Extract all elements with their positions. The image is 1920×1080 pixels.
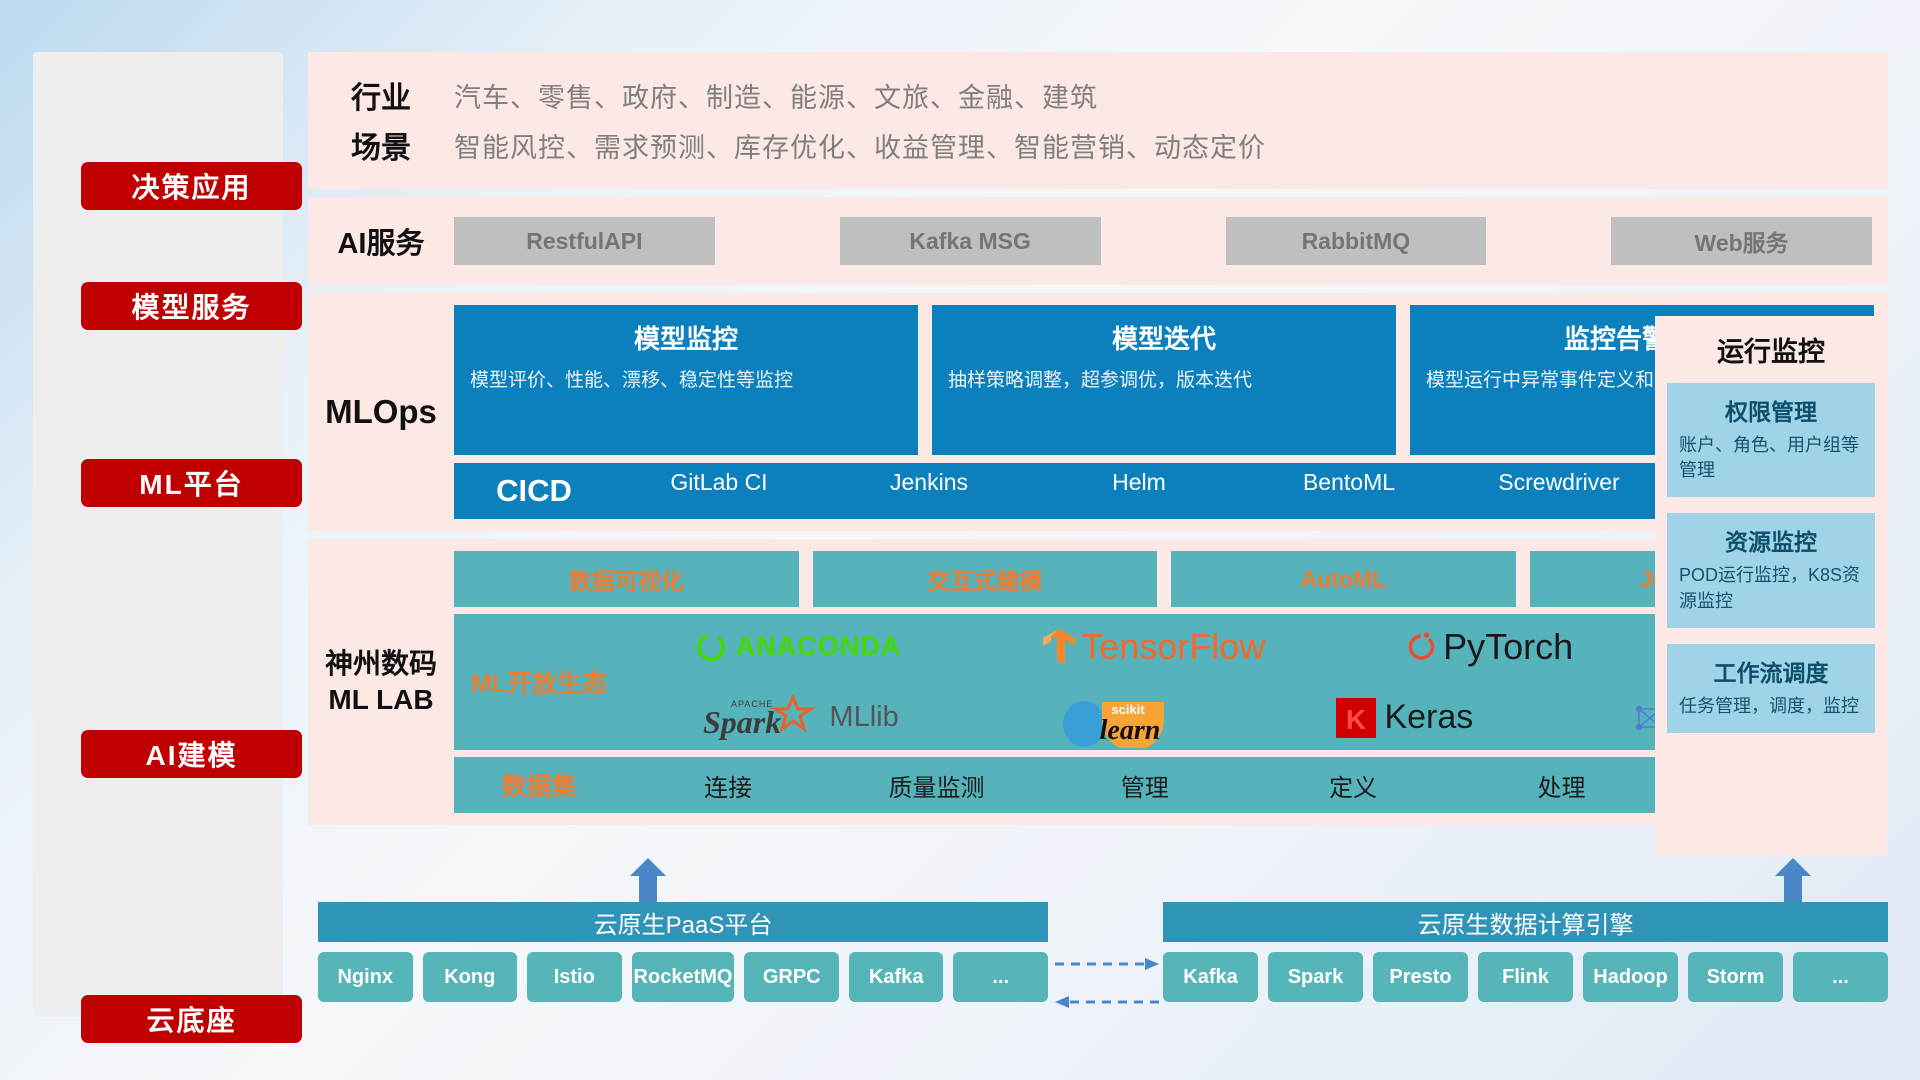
card-desc: 任务管理，调度，监控 bbox=[1679, 694, 1863, 719]
card-desc: 模型评价、性能、漂移、稳定性等监控 bbox=[470, 368, 902, 395]
cloud-data-engine-group: 云原生数据计算引擎 Kafka Spark Presto Flink Hadoo… bbox=[1163, 902, 1888, 1002]
tab-interactive-modeling[interactable]: 交互式建模 bbox=[813, 551, 1158, 607]
tensorflow-logo: TensorFlow bbox=[1041, 626, 1265, 668]
cloud-paas-chips: Nginx Kong Istio RocketMQ GRPC Kafka ... bbox=[318, 952, 1048, 1002]
tab-data-visualization[interactable]: 数据可视化 bbox=[454, 551, 799, 607]
spark-mllib-logo: Spark APACHE MLlib bbox=[703, 695, 898, 741]
rail-label-text: AI建模 bbox=[145, 734, 237, 774]
band-business: 行业 汽车、零售、政府、制造、能源、文旅、金融、建筑 场景 智能风控、需求预测、… bbox=[308, 52, 1888, 189]
rail-label-model-service[interactable]: 模型服务 bbox=[81, 282, 302, 330]
up-arrow-icon-left bbox=[628, 858, 668, 902]
scikit-learn-logo: scikit learn bbox=[1058, 688, 1178, 748]
runtime-monitor-title: 运行监控 bbox=[1667, 330, 1875, 369]
paas-chip-kong[interactable]: Kong bbox=[423, 952, 518, 1002]
engine-chip-more[interactable]: ... bbox=[1793, 952, 1888, 1002]
engine-chip-kafka[interactable]: Kafka bbox=[1163, 952, 1258, 1002]
paas-chip-kafka[interactable]: Kafka bbox=[849, 952, 944, 1002]
tensorflow-label: TensorFlow bbox=[1081, 626, 1265, 668]
dataset-item-quality-monitor[interactable]: 质量监测 bbox=[832, 768, 1040, 803]
rail-label-ml-platform[interactable]: ML平台 bbox=[81, 459, 302, 507]
ai-service-key: AI服务 bbox=[308, 220, 454, 262]
paas-chip-nginx[interactable]: Nginx bbox=[318, 952, 413, 1002]
industry-row: 行业 汽车、零售、政府、制造、能源、文旅、金融、建筑 bbox=[308, 70, 1888, 120]
card-title: 模型迭代 bbox=[948, 319, 1380, 356]
cloud-data-engine-chips: Kafka Spark Presto Flink Hadoop Storm ..… bbox=[1163, 952, 1888, 1002]
svg-text:learn: learn bbox=[1099, 715, 1160, 746]
bidirectional-dashed-arrows-icon bbox=[1053, 952, 1161, 1012]
paas-chip-grpc[interactable]: GRPC bbox=[744, 952, 839, 1002]
cicd-item-bentoml[interactable]: BentoML bbox=[1244, 468, 1454, 514]
card-desc: 抽样策略调整，超参调优，版本迭代 bbox=[948, 368, 1380, 395]
cicd-item-screwdriver[interactable]: Screwdriver bbox=[1454, 468, 1664, 514]
industry-value: 汽车、零售、政府、制造、能源、文旅、金融、建筑 bbox=[454, 76, 1098, 115]
dataset-item-connect[interactable]: 连接 bbox=[624, 768, 832, 803]
scikit-learn-icon: scikit learn bbox=[1058, 688, 1178, 748]
rail-label-text: 决策应用 bbox=[131, 166, 251, 206]
pytorch-icon bbox=[1405, 629, 1437, 665]
ml-ecosystem-lead: ML开放生态 bbox=[454, 664, 624, 700]
ml-lab-key: 神州数码 ML LAB bbox=[308, 539, 454, 825]
engine-chip-flink[interactable]: Flink bbox=[1478, 952, 1573, 1002]
dataset-item-manage[interactable]: 管理 bbox=[1041, 768, 1249, 803]
ai-service-chip-web-service[interactable]: Web服务 bbox=[1611, 217, 1872, 265]
keras-icon: K bbox=[1336, 698, 1376, 738]
keras-logo: K Keras bbox=[1336, 698, 1473, 738]
cicd-item-jenkins[interactable]: Jenkins bbox=[824, 468, 1034, 514]
cloud-data-engine-title: 云原生数据计算引擎 bbox=[1163, 902, 1888, 942]
pytorch-logo: PyTorch bbox=[1405, 626, 1573, 668]
dataset-lead: 数据集 bbox=[454, 767, 624, 803]
scenario-key: 场景 bbox=[308, 123, 454, 167]
tensorflow-icon bbox=[1041, 627, 1077, 667]
up-arrow-icon-right bbox=[1773, 858, 1813, 902]
cicd-lead: CICD bbox=[454, 473, 614, 509]
dataset-item-define[interactable]: 定义 bbox=[1249, 768, 1457, 803]
engine-chip-storm[interactable]: Storm bbox=[1688, 952, 1783, 1002]
rail-label-ai-modeling[interactable]: AI建模 bbox=[81, 730, 302, 778]
cloud-paas-group: 云原生PaaS平台 Nginx Kong Istio RocketMQ GRPC… bbox=[318, 902, 1048, 1002]
mlops-key: MLOps bbox=[308, 293, 454, 531]
paas-chip-more[interactable]: ... bbox=[953, 952, 1048, 1002]
ai-service-chip-rabbitmq[interactable]: RabbitMQ bbox=[1226, 217, 1487, 265]
mlops-card-model-iteration[interactable]: 模型迭代 抽样策略调整，超参调优，版本迭代 bbox=[932, 305, 1396, 455]
mlops-card-model-monitor[interactable]: 模型监控 模型评价、性能、漂移、稳定性等监控 bbox=[454, 305, 918, 455]
engine-chip-presto[interactable]: Presto bbox=[1373, 952, 1468, 1002]
svg-text:Spark: Spark bbox=[703, 704, 781, 740]
engine-chip-hadoop[interactable]: Hadoop bbox=[1583, 952, 1678, 1002]
anaconda-logo: ANACONDA bbox=[694, 630, 902, 664]
mllib-label: MLlib bbox=[829, 701, 898, 734]
monitor-card-resource[interactable]: 资源监控 POD运行监控，K8S资源监控 bbox=[1667, 513, 1875, 627]
card-desc: POD运行监控，K8S资源监控 bbox=[1679, 563, 1863, 613]
ai-service-chips: RestfulAPI Kafka MSG RabbitMQ Web服务 bbox=[454, 217, 1888, 265]
anaconda-icon bbox=[694, 630, 728, 664]
rail-label-decision-app[interactable]: 决策应用 bbox=[81, 162, 302, 210]
rail-label-cloud-base[interactable]: 云底座 bbox=[81, 995, 302, 1043]
layer-rail: 决策应用 模型服务 ML平台 AI建模 云底座 bbox=[33, 52, 283, 1017]
ml-lab-key-line1: 神州数码 bbox=[325, 646, 437, 682]
rail-label-text: 模型服务 bbox=[131, 286, 251, 326]
cicd-item-gitlab-ci[interactable]: GitLab CI bbox=[614, 468, 824, 514]
spark-icon: Spark APACHE bbox=[703, 695, 823, 741]
rail-label-text: ML平台 bbox=[139, 463, 243, 503]
scenario-row: 场景 智能风控、需求预测、库存优化、收益管理、智能营销、动态定价 bbox=[308, 120, 1888, 170]
architecture-diagram: 决策应用 模型服务 ML平台 AI建模 云底座 行业 汽车、零售、政府、制造、能… bbox=[0, 0, 1920, 1080]
anaconda-label: ANACONDA bbox=[736, 631, 902, 662]
svg-text:K: K bbox=[1346, 704, 1366, 735]
card-title: 权限管理 bbox=[1679, 393, 1863, 427]
ai-service-chip-kafka-msg[interactable]: Kafka MSG bbox=[840, 217, 1101, 265]
cloud-paas-title: 云原生PaaS平台 bbox=[318, 902, 1048, 942]
scenario-value: 智能风控、需求预测、库存优化、收益管理、智能营销、动态定价 bbox=[454, 126, 1266, 165]
industry-key: 行业 bbox=[308, 73, 454, 117]
card-title: 资源监控 bbox=[1679, 523, 1863, 557]
ai-service-chip-restfulapi[interactable]: RestfulAPI bbox=[454, 217, 715, 265]
band-ml-lab: 神州数码 ML LAB 数据可视化 交互式建模 AutoML JupyterLa… bbox=[308, 539, 1888, 825]
monitor-card-permission[interactable]: 权限管理 账户、角色、用户组等管理 bbox=[1667, 383, 1875, 497]
cloud-foundation: 云原生PaaS平台 Nginx Kong Istio RocketMQ GRPC… bbox=[308, 866, 1888, 1018]
paas-chip-istio[interactable]: Istio bbox=[527, 952, 622, 1002]
keras-label: Keras bbox=[1384, 698, 1473, 737]
rail-label-text: 云底座 bbox=[146, 999, 236, 1039]
cicd-item-helm[interactable]: Helm bbox=[1034, 468, 1244, 514]
dataset-item-process[interactable]: 处理 bbox=[1457, 768, 1665, 803]
card-desc: 账户、角色、用户组等管理 bbox=[1679, 433, 1863, 483]
svg-text:APACHE: APACHE bbox=[731, 699, 773, 709]
runtime-monitor-panel: 运行监控 权限管理 账户、角色、用户组等管理 资源监控 POD运行监控，K8S资… bbox=[1655, 316, 1887, 856]
main-stack: 行业 汽车、零售、政府、制造、能源、文旅、金融、建筑 场景 智能风控、需求预测、… bbox=[308, 52, 1888, 825]
ml-lab-key-line2: ML LAB bbox=[328, 682, 433, 718]
band-ai-service: AI服务 RestfulAPI Kafka MSG RabbitMQ Web服务 bbox=[308, 197, 1888, 285]
band-mlops: MLOps 模型监控 模型评价、性能、漂移、稳定性等监控 模型迭代 抽样策略调整… bbox=[308, 293, 1888, 531]
monitor-card-workflow[interactable]: 工作流调度 任务管理，调度，监控 bbox=[1667, 644, 1875, 733]
card-title: 工作流调度 bbox=[1679, 654, 1863, 688]
tab-automl[interactable]: AutoML bbox=[1171, 551, 1516, 607]
card-title: 模型监控 bbox=[470, 319, 902, 356]
paas-chip-rocketmq[interactable]: RocketMQ bbox=[632, 952, 735, 1002]
pytorch-label: PyTorch bbox=[1443, 626, 1573, 668]
engine-chip-spark[interactable]: Spark bbox=[1268, 952, 1363, 1002]
